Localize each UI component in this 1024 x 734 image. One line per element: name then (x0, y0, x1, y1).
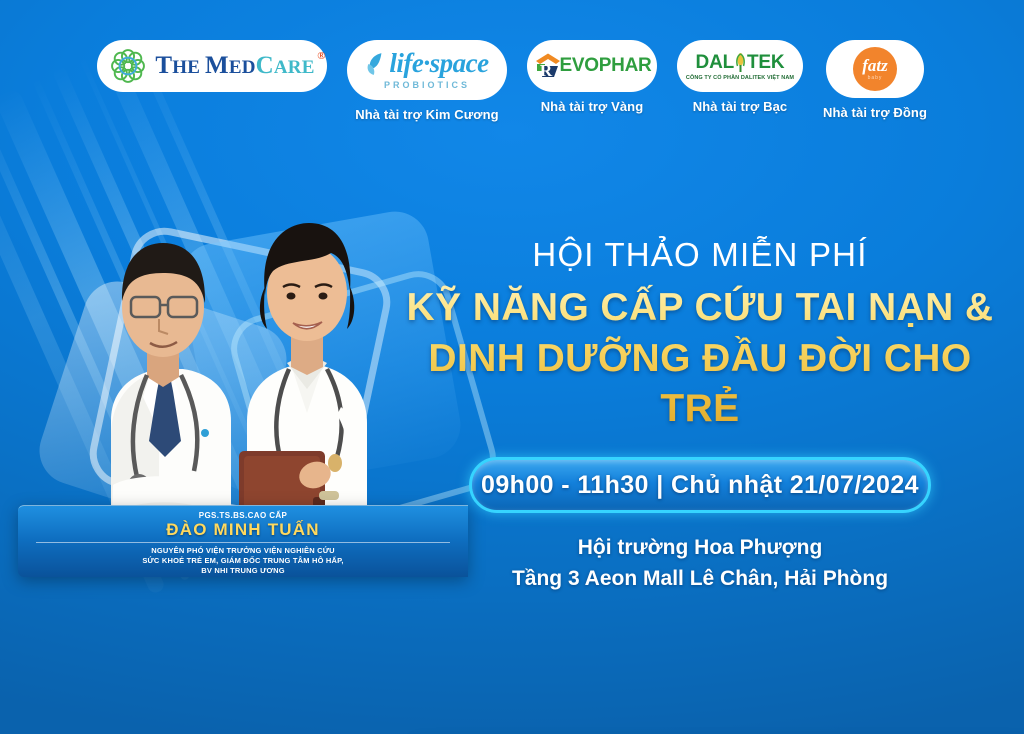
event-headline-line-2: DINH DƯỠNG ĐẦU ĐỜI CHO TRẺ (400, 334, 1000, 435)
sponsor-wordmark-fatz: fatz (862, 57, 888, 74)
event-venue-line-1: Hội trường Hoa Phượng (400, 532, 1000, 563)
dalitek-word-right: TEK (747, 53, 784, 72)
event-headline: KỸ NĂNG CẤP CỨU TAI NẠN & DINH DƯỠNG ĐẦU… (400, 283, 1000, 435)
sponsor-logo-life-space: life·space PROBIOTICS (347, 40, 507, 100)
event-venue: Hội trường Hoa Phượng Tầng 3 Aeon Mall L… (400, 532, 1000, 594)
sponsor-logo-the-medcare: THE MEDCARE® (97, 40, 327, 92)
sponsor-bar: THE MEDCARE® life·space PROBIOTICS Nh (0, 40, 1024, 122)
svg-text:R: R (539, 61, 552, 80)
revophar-mark-icon: R (533, 51, 563, 81)
medcare-word-m: M (205, 52, 229, 79)
dalitek-word-left: DAL (696, 53, 734, 72)
medcare-word-he: HE (172, 57, 205, 78)
event-datetime-badge: 09h00 - 11h30 | Chủ nhật 21/07/2024 (469, 457, 931, 513)
sponsor-wordmark-revophar: EVOPHAR (560, 55, 652, 77)
leaf-icon (365, 51, 387, 77)
medcare-word-the: T (155, 52, 172, 79)
event-datetime-text: 09h00 - 11h30 | Chủ nhật 21/07/2024 (481, 471, 919, 500)
sponsor-wordmark-life-space: life·space (389, 50, 488, 77)
medcare-word-are: ARE (274, 57, 315, 78)
medcare-word-ed: ED (229, 57, 256, 78)
sponsor-tier-label: Nhà tài trợ Kim Cương (355, 107, 498, 122)
speaker-title-prefix: PGS.TS.BS.CAO CẤP (24, 511, 462, 520)
event-venue-line-2: Tầng 3 Aeon Mall Lê Chân, Hải Phòng (400, 563, 1000, 594)
sponsor-subtitle-probiotics: PROBIOTICS (384, 80, 470, 90)
registered-mark-icon: ® (317, 50, 325, 62)
event-banner: THE MEDCARE® life·space PROBIOTICS Nh (0, 0, 1024, 734)
sponsor-logo-dalitek: DAL TEK CÔNG TY CỔ PHẦN DALITEK VIỆT NAM (677, 40, 803, 92)
speaker-role-line: NGUYÊN PHÓ VIỆN TRƯỞNG VIỆN NGHIÊN CỨU (24, 546, 462, 556)
corn-icon (734, 51, 747, 73)
event-headline-line-1: KỸ NĂNG CẤP CỨU TAI NẠN & (400, 283, 1000, 334)
sponsor-tier-label: Nhà tài trợ Bạc (693, 99, 788, 114)
sponsor-revophar: R EVOPHAR Nhà tài trợ Vàng (527, 40, 657, 114)
sponsor-the-medcare: THE MEDCARE® (97, 40, 327, 99)
sponsor-subtitle-baby: baby (868, 75, 883, 81)
sponsor-subtitle-dalitek: CÔNG TY CỔ PHẦN DALITEK VIỆT NAM (686, 75, 794, 81)
sponsor-wordmark-the-medcare: THE MEDCARE® (155, 52, 314, 80)
sponsor-fatz-baby: fatz baby Nhà tài trợ Đồng (823, 40, 927, 120)
speaker-role-line: BV NHI TRUNG ƯƠNG (24, 566, 462, 576)
sponsor-logo-fatz-baby: fatz baby (826, 40, 924, 98)
sponsor-tier-label: Nhà tài trợ Đồng (823, 105, 927, 120)
flower-icon (109, 47, 147, 85)
medcare-word-c: C (256, 52, 274, 79)
speaker-name: ĐÀO MINH TUẤN (24, 520, 462, 540)
sponsor-logo-revophar: R EVOPHAR (527, 40, 657, 92)
speaker-role-line: SỨC KHOẺ TRẺ EM, GIÁM ĐỐC TRUNG TÂM HÔ H… (24, 556, 462, 566)
divider (36, 542, 450, 543)
fatz-circle-icon: fatz baby (853, 47, 897, 91)
sponsor-life-space: life·space PROBIOTICS Nhà tài trợ Kim Cư… (347, 40, 507, 122)
sponsor-dalitek: DAL TEK CÔNG TY CỔ PHẦN DALITEK VIỆT NAM… (677, 40, 803, 114)
event-details: HỘI THẢO MIỄN PHÍ KỸ NĂNG CẤP CỨU TAI NẠ… (400, 236, 1000, 594)
event-kicker: HỘI THẢO MIỄN PHÍ (400, 236, 1000, 274)
sponsor-tier-label: Nhà tài trợ Vàng (541, 99, 644, 114)
